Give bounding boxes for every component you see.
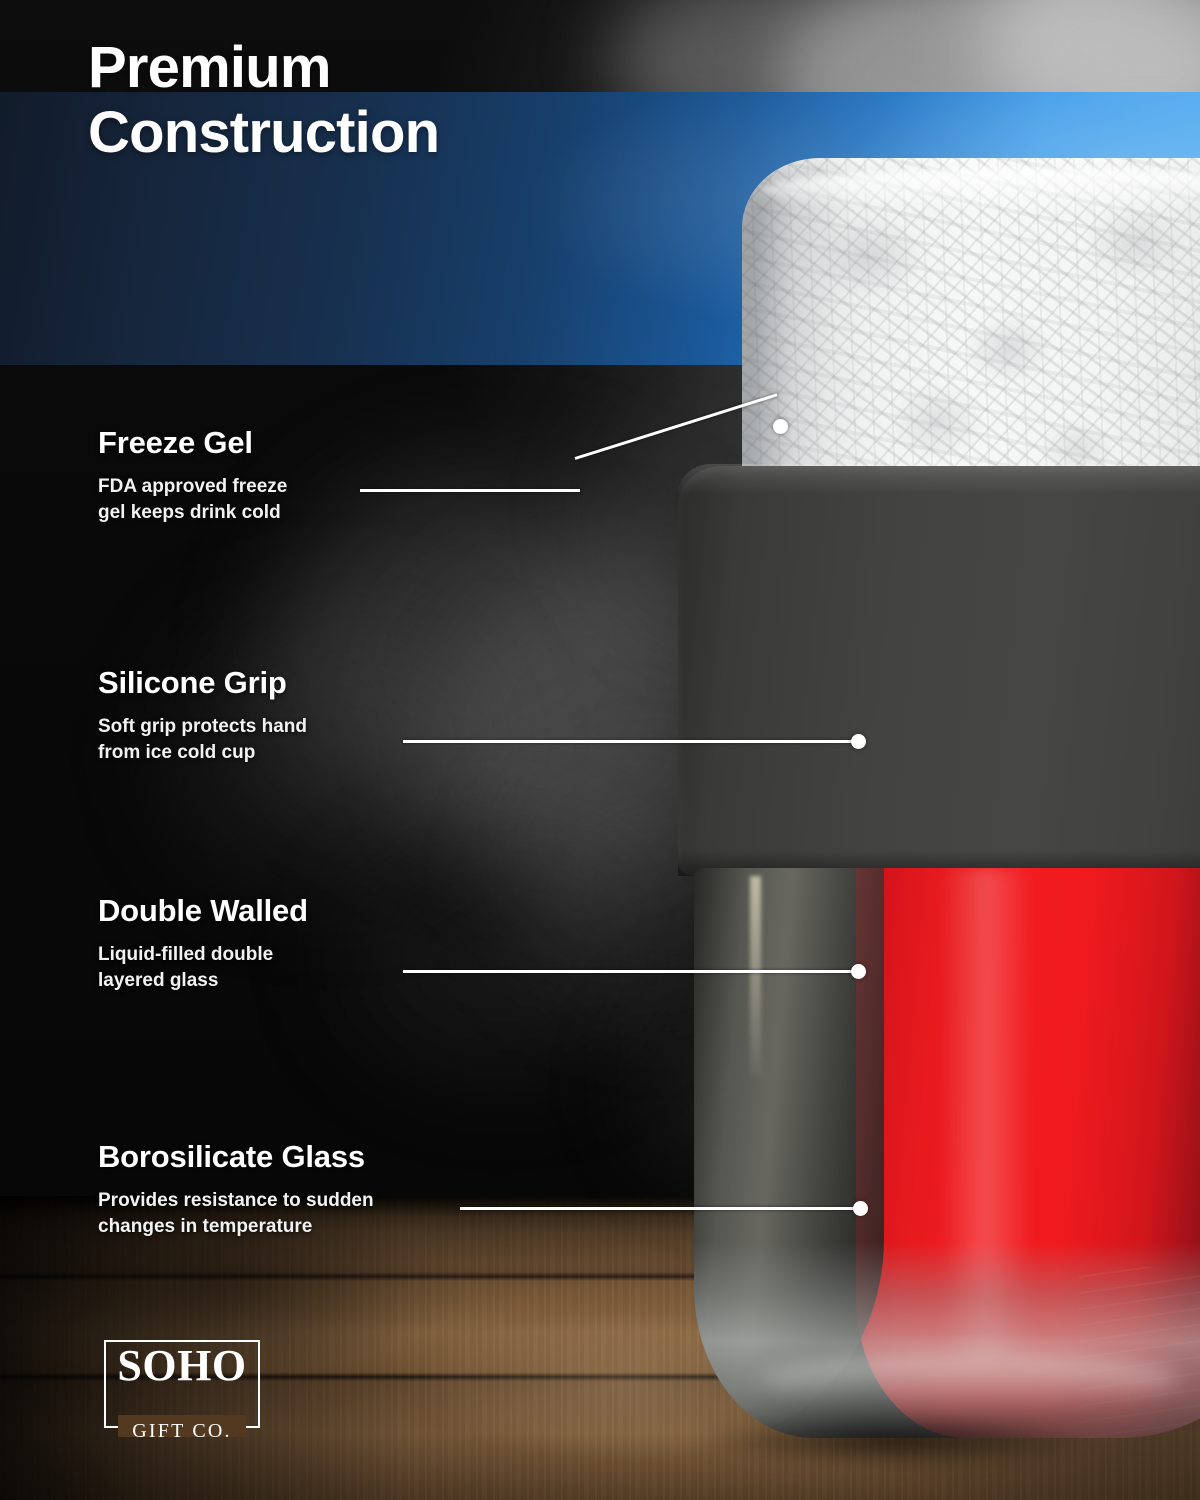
page-title: Premium Construction — [88, 36, 439, 166]
feature-description: Liquid-filled double layered glass — [98, 942, 308, 994]
feature-description: Soft grip protects hand from ice cold cu… — [98, 714, 307, 766]
feature-description: FDA approved freeze gel keeps drink cold — [98, 474, 287, 526]
product-image-freeze-cup — [700, 158, 1200, 1448]
glass-body — [694, 868, 1200, 1438]
glass-base-highlight — [760, 1352, 1180, 1406]
feature-title: Silicone Grip — [98, 665, 307, 701]
feature-title: Borosilicate Glass — [98, 1139, 374, 1175]
feature-title: Double Walled — [98, 893, 308, 929]
feature-callout-double-walled: Double Walled Liquid-filled double layer… — [98, 893, 308, 994]
feature-callout-borosilicate-glass: Borosilicate Glass Provides resistance t… — [98, 1139, 374, 1240]
product-infographic: Premium Construction Freeze Gel FDA appr… — [0, 0, 1200, 1500]
logo-secondary-text: GIFT CO. — [123, 1421, 240, 1441]
feature-title: Freeze Gel — [98, 425, 287, 461]
freeze-gel-sleeve — [742, 158, 1200, 488]
feature-callout-silicone-grip: Silicone Grip Soft grip protects hand fr… — [98, 665, 307, 766]
glass-reflection-streak — [750, 876, 761, 1076]
grip-top-highlight — [678, 464, 1200, 494]
silicone-grip-band — [678, 466, 1200, 876]
feature-callout-freeze-gel: Freeze Gel FDA approved freeze gel keeps… — [98, 425, 287, 526]
feature-description: Provides resistance to sudden changes in… — [98, 1188, 374, 1240]
cup-contact-shadow — [640, 1412, 1200, 1482]
logo-primary-text: SOHO — [104, 1344, 260, 1388]
brand-logo-soho-gift-co: SOHO GIFT CO. — [104, 1340, 260, 1428]
glass-base — [694, 1242, 1200, 1438]
